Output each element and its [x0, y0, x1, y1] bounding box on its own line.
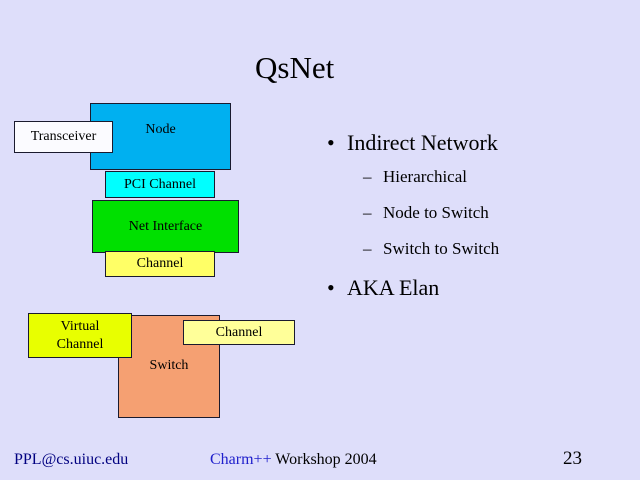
- diagram-box-switch-label: Switch: [150, 358, 189, 374]
- footer-center: Charm++ Workshop 2004: [210, 450, 377, 470]
- dash-marker-icon: –: [363, 239, 372, 259]
- bullet-item-switch-to-switch-label: Switch to Switch: [383, 239, 499, 258]
- bullet-item-node-to-switch-label: Node to Switch: [383, 203, 489, 222]
- diagram-box-transceiver-label: Transceiver: [31, 129, 97, 145]
- bullet-item-hierarchical-label: Hierarchical: [383, 167, 467, 186]
- diagram-box-pci-channel-label: PCI Channel: [124, 177, 196, 193]
- diagram-box-virtual-channel-label-line1: Virtual: [61, 318, 100, 336]
- diagram-box-node-label: Node: [145, 122, 175, 138]
- footer-event-label: Workshop 2004: [272, 451, 377, 468]
- bullet-item-node-to-switch: – Node to Switch: [325, 203, 625, 223]
- diagram-box-net-interface: Net Interface: [92, 200, 239, 253]
- bullet-item-hierarchical: – Hierarchical: [325, 167, 625, 187]
- diagram-box-virtual-channel: Virtual Channel: [28, 313, 132, 358]
- dash-marker-icon: –: [363, 167, 372, 187]
- bullet-item-aka-elan: • AKA Elan: [325, 275, 625, 301]
- bullet-item-aka-elan-label: AKA Elan: [347, 275, 439, 300]
- bullet-item-switch-to-switch: – Switch to Switch: [325, 239, 625, 259]
- diagram-box-channel-top: Channel: [105, 251, 215, 277]
- footer-brand-label: Charm++: [210, 451, 272, 468]
- bullet-list: • Indirect Network – Hierarchical – Node…: [325, 130, 625, 312]
- bullet-item-indirect-network-label: Indirect Network: [347, 130, 498, 155]
- page-title: QsNet: [255, 50, 615, 86]
- diagram-box-channel-top-label: Channel: [137, 256, 184, 272]
- diagram-box-net-interface-label: Net Interface: [129, 219, 202, 235]
- bullet-item-indirect-network: • Indirect Network: [325, 130, 625, 156]
- diagram-box-channel-bottom: Channel: [183, 320, 295, 345]
- slide-canvas: QsNet Node Transceiver PCI Channel Net I…: [0, 0, 640, 480]
- diagram-box-transceiver: Transceiver: [14, 121, 113, 153]
- dash-marker-icon: –: [363, 203, 372, 223]
- bullet-marker-icon: •: [327, 130, 335, 156]
- diagram-box-channel-bottom-label: Channel: [216, 325, 263, 341]
- footer-email: PPL@cs.uiuc.edu: [14, 450, 128, 470]
- diagram-box-virtual-channel-label-line2: Channel: [57, 336, 104, 354]
- diagram-box-pci-channel: PCI Channel: [105, 171, 215, 198]
- bullet-marker-icon: •: [327, 275, 335, 301]
- footer-page-number: 23: [563, 448, 582, 470]
